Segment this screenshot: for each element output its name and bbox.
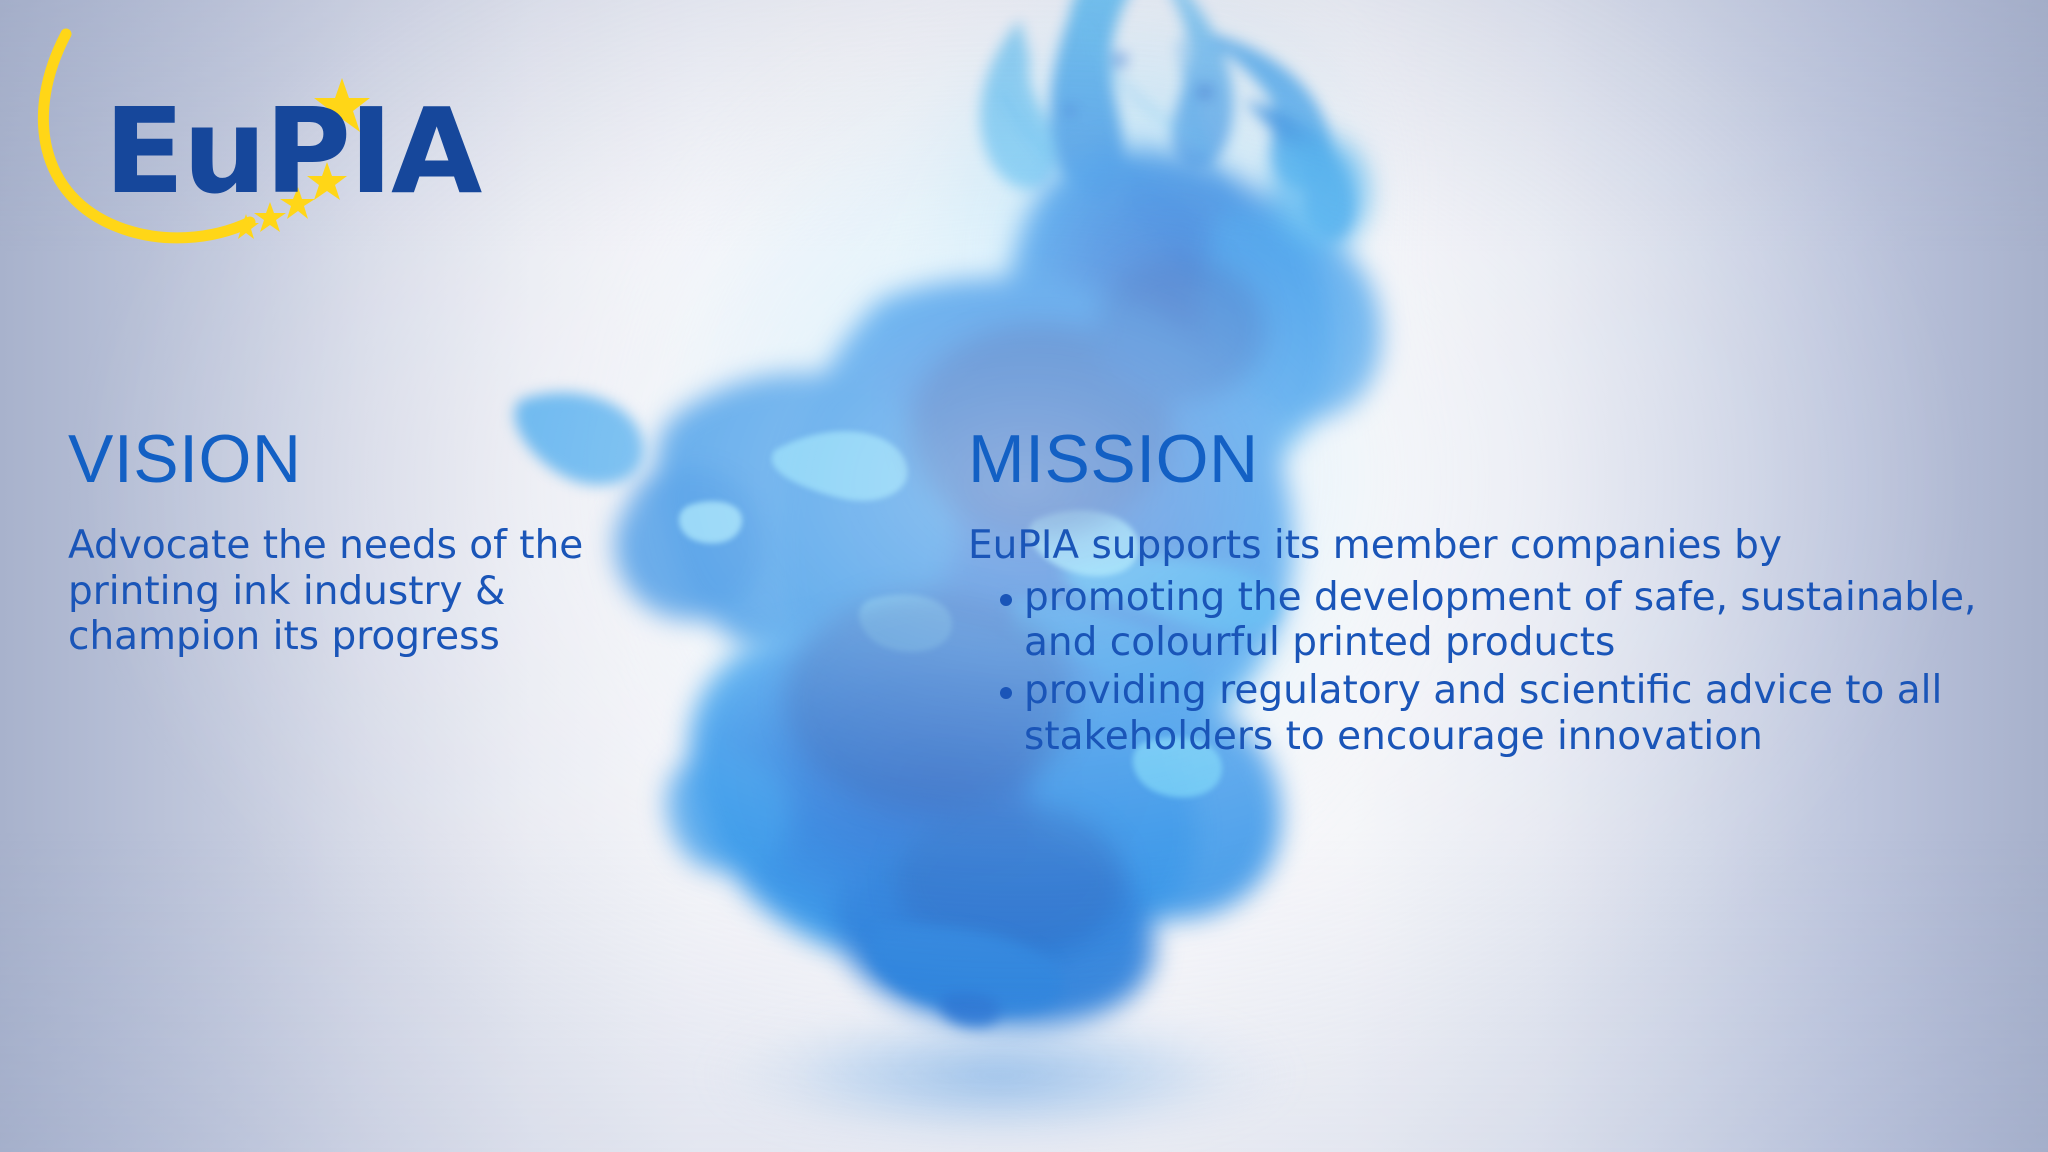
vision-body: Advocate the needs of the printing ink i… bbox=[68, 523, 688, 660]
mission-section: MISSION EuPIA supports its member compan… bbox=[968, 425, 1988, 761]
mission-heading: MISSION bbox=[968, 425, 1988, 493]
list-item: promoting the development of safe, susta… bbox=[968, 575, 1988, 666]
mission-intro-text: EuPIA supports its member companies by bbox=[968, 523, 1988, 569]
logo-wordmark: EuPIA bbox=[104, 92, 480, 210]
eupia-logo[interactable]: EuPIA bbox=[22, 22, 482, 252]
vision-heading: VISION bbox=[68, 425, 688, 493]
mission-bullet-list: promoting the development of safe, susta… bbox=[968, 575, 1988, 760]
list-item: providing regulatory and scientific advi… bbox=[968, 668, 1988, 759]
ink-reflection-glow bbox=[640, 985, 1360, 1152]
slide-canvas: EuPIA VISION Advocate the needs of the p… bbox=[0, 0, 2048, 1152]
vision-section: VISION Advocate the needs of the printin… bbox=[68, 425, 688, 660]
